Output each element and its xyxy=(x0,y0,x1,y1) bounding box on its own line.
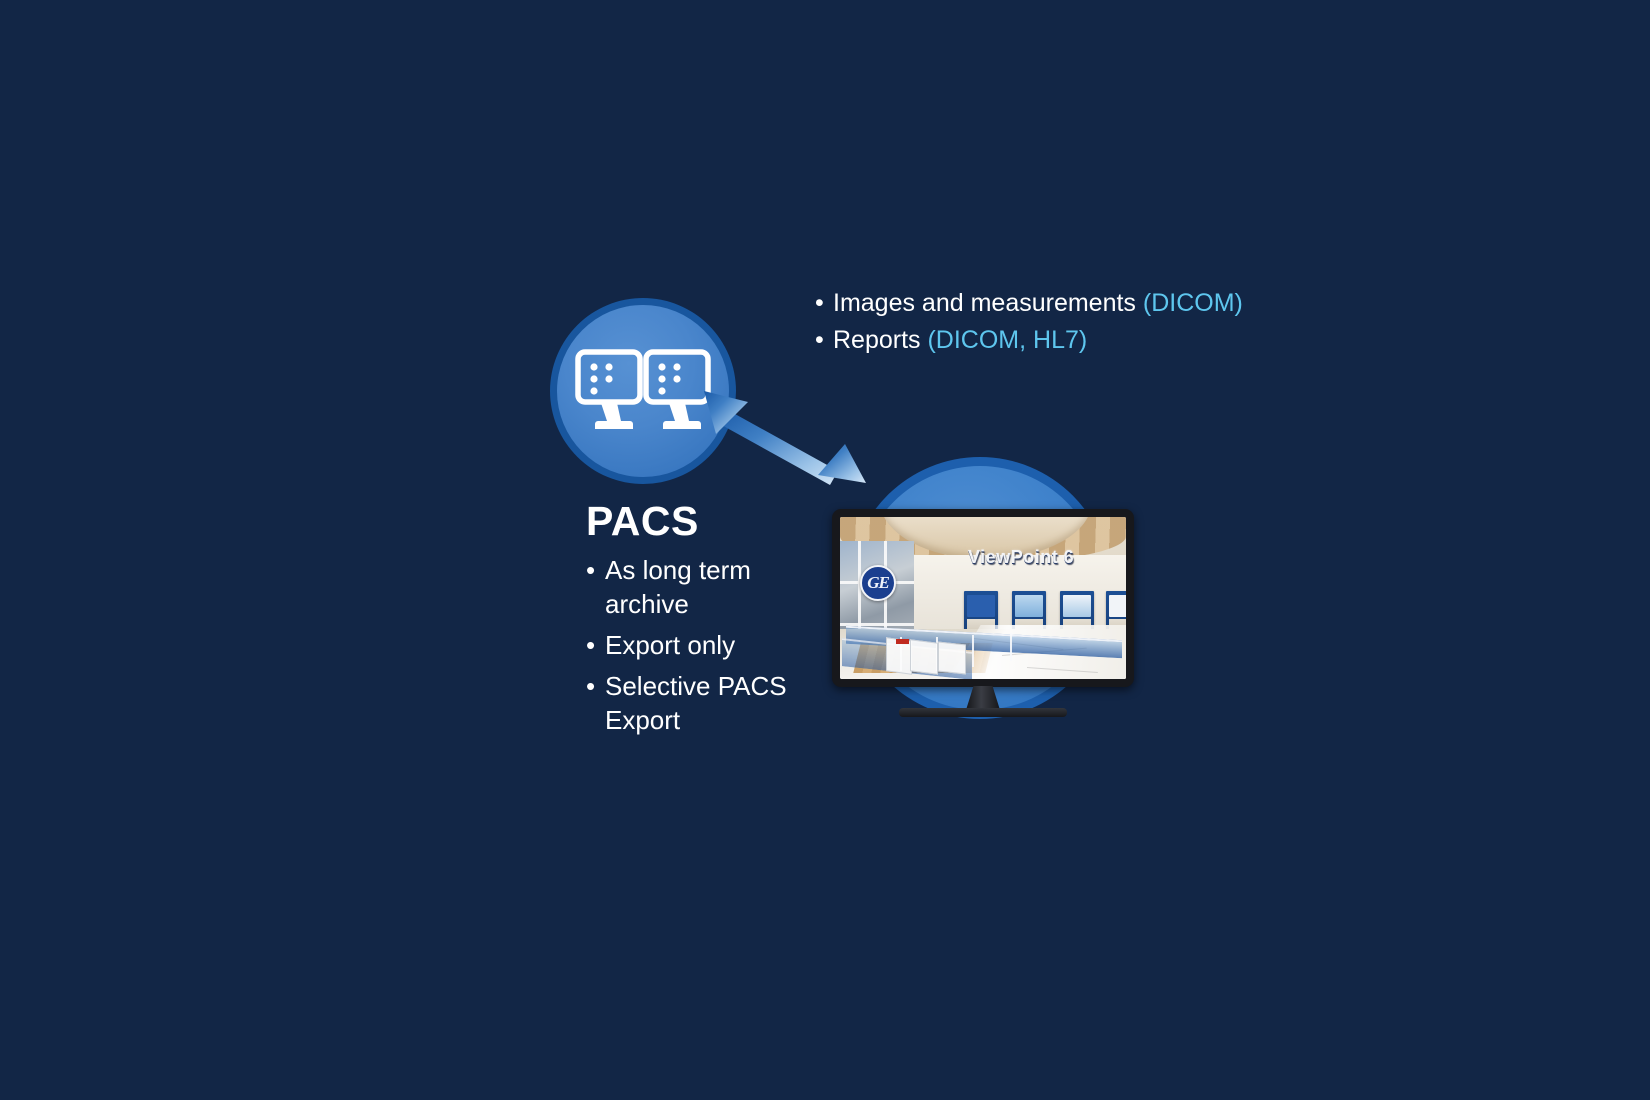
bullet-line-reports: •Reports (DICOM, HL7) xyxy=(815,322,1295,359)
pacs-bullet-item: Export only xyxy=(586,628,796,662)
pacs-title: PACS xyxy=(586,498,699,545)
bullet-text: Images and measurements xyxy=(833,289,1143,317)
desktop-monitor-icon[interactable]: GE ViewPoint 6 xyxy=(832,509,1134,687)
monitor-stand-base xyxy=(899,708,1067,717)
data-flow-bullets: •Images and measurements (DICOM) •Report… xyxy=(815,285,1295,359)
bullet-accent: (DICOM, HL7) xyxy=(927,326,1087,354)
bullet-line-images: •Images and measurements (DICOM) xyxy=(815,285,1295,322)
pacs-bullet-item: Selective PACS Export xyxy=(586,669,796,737)
viewpoint-screen-title: ViewPoint 6 xyxy=(968,547,1074,568)
ge-logo: GE xyxy=(860,565,896,601)
scene-red-marker xyxy=(896,639,909,644)
slide-canvas: GE ViewPoint 6 xyxy=(0,0,1650,1100)
bullet-marker: • xyxy=(815,285,833,322)
pacs-bullet-list: As long term archive Export only Selecti… xyxy=(586,553,796,744)
bullet-accent: (DICOM) xyxy=(1143,289,1243,317)
scene-panel xyxy=(938,642,966,675)
scene-panel xyxy=(910,639,938,674)
monitor-screen: GE ViewPoint 6 xyxy=(840,517,1126,679)
bullet-marker: • xyxy=(815,322,833,359)
viewpoint-scene: GE ViewPoint 6 xyxy=(840,517,1126,679)
pacs-bullet-item: As long term archive xyxy=(586,553,796,621)
bullet-text: Reports xyxy=(833,326,927,354)
